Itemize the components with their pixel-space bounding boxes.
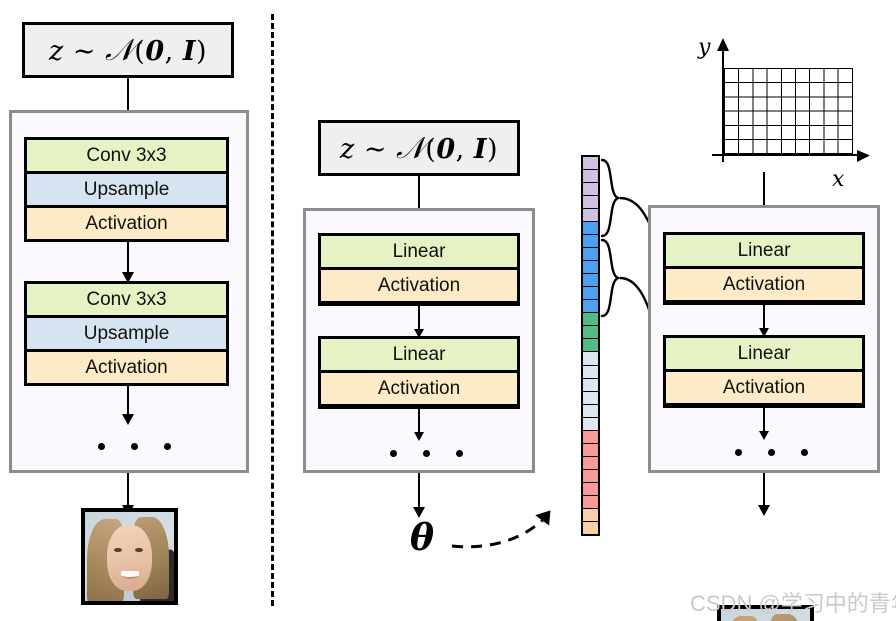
coordinate-grid bbox=[724, 68, 853, 154]
strip-cell bbox=[583, 274, 598, 287]
left-latent-box: z ∼ 𝒩(0, I) bbox=[22, 22, 234, 78]
right-block-1-row-linear: Linear bbox=[666, 235, 862, 266]
strip-cell bbox=[583, 222, 598, 235]
middle-block-1-row-activation: Activation bbox=[321, 267, 517, 301]
strip-cell bbox=[583, 444, 598, 457]
left-block-2-row-conv: Conv 3x3 bbox=[27, 284, 226, 315]
strip-cell bbox=[583, 170, 598, 183]
y-axis-line bbox=[722, 49, 724, 162]
left-block-2-row-activation: Activation bbox=[27, 349, 226, 383]
left-block-1-row-activation: Activation bbox=[27, 205, 226, 239]
middle-arrow-dots-to-theta bbox=[418, 473, 420, 511]
strip-cell bbox=[583, 522, 598, 534]
strip-cell bbox=[583, 470, 598, 483]
left-arrowhead-3 bbox=[122, 414, 134, 425]
theta-symbol: θ bbox=[402, 517, 442, 559]
right-arrowhead-3 bbox=[759, 431, 769, 440]
right-ellipsis bbox=[735, 449, 808, 456]
left-latent-formula: z ∼ 𝒩(0, I) bbox=[49, 33, 207, 68]
right-block-1: Linear Activation bbox=[663, 232, 865, 305]
strip-cell bbox=[583, 457, 598, 470]
left-arrow-dots-to-image bbox=[127, 473, 129, 509]
x-axis-line bbox=[712, 154, 858, 156]
photo-mouth bbox=[121, 571, 140, 579]
strip-cell bbox=[583, 379, 598, 392]
right-arrow-dots-to-image bbox=[763, 473, 765, 509]
middle-block-2-row-activation: Activation bbox=[321, 370, 517, 404]
right-block-2-row-activation: Activation bbox=[666, 369, 862, 403]
middle-latent-formula: z ∼ 𝒩(0, I) bbox=[340, 131, 498, 166]
strip-cell bbox=[583, 392, 598, 405]
strip-cell bbox=[583, 235, 598, 248]
strip-cell bbox=[583, 339, 598, 352]
strip-cell bbox=[583, 209, 598, 222]
strip-cell bbox=[583, 405, 598, 418]
left-block-1: Conv 3x3 Upsample Activation bbox=[24, 137, 229, 242]
y-axis-arrowhead bbox=[716, 38, 732, 54]
right-block-2-row-linear: Linear bbox=[666, 338, 862, 369]
x-axis-arrowhead bbox=[855, 149, 871, 163]
strip-cell bbox=[583, 196, 598, 209]
strip-cell bbox=[583, 248, 598, 261]
middle-latent-box: z ∼ 𝒩(0, I) bbox=[318, 120, 520, 176]
watermark-text: CSDN @学习中的青年 bbox=[690, 586, 896, 618]
photo-face bbox=[107, 525, 152, 591]
strip-cell bbox=[583, 509, 598, 522]
left-block-2: Conv 3x3 Upsample Activation bbox=[24, 281, 229, 386]
strip-cell bbox=[583, 183, 598, 196]
left-arrow-block1-to-block2 bbox=[127, 242, 129, 276]
middle-arrowhead-3 bbox=[414, 432, 424, 441]
panel-divider bbox=[271, 14, 274, 606]
strip-cell bbox=[583, 157, 598, 170]
strip-cell bbox=[583, 496, 598, 509]
left-output-image bbox=[81, 508, 178, 605]
strip-cell bbox=[583, 326, 598, 339]
left-block-2-row-upsample: Upsample bbox=[27, 315, 226, 349]
middle-ellipsis bbox=[390, 450, 463, 457]
left-ellipsis bbox=[98, 443, 171, 450]
strip-cell bbox=[583, 431, 598, 444]
left-block-1-row-conv: Conv 3x3 bbox=[27, 140, 226, 171]
strip-cell bbox=[583, 352, 598, 365]
left-block-1-row-upsample: Upsample bbox=[27, 171, 226, 205]
middle-block-2-row-linear: Linear bbox=[321, 339, 517, 370]
figure-canvas: z ∼ 𝒩(0, I) Conv 3x3 Upsample Activation… bbox=[0, 0, 896, 621]
strip-cell bbox=[583, 483, 598, 496]
strip-cell bbox=[583, 418, 598, 431]
strip-cell bbox=[583, 313, 598, 326]
strip-cell bbox=[583, 366, 598, 379]
right-block-1-row-activation: Activation bbox=[666, 266, 862, 300]
right-arrowhead-4 bbox=[758, 505, 770, 516]
y-axis-label: y bbox=[698, 35, 710, 60]
x-axis-label: x bbox=[832, 167, 844, 192]
right-block-2: Linear Activation bbox=[663, 335, 865, 408]
strip-cell bbox=[583, 287, 598, 300]
strip-cell bbox=[583, 261, 598, 274]
middle-block-1-row-linear: Linear bbox=[321, 236, 517, 267]
middle-block-2: Linear Activation bbox=[318, 336, 520, 409]
photo-eye-right bbox=[135, 548, 143, 552]
middle-block-1: Linear Activation bbox=[318, 233, 520, 306]
strip-cell bbox=[583, 300, 598, 313]
theta-to-strip-arrow bbox=[448, 480, 588, 570]
